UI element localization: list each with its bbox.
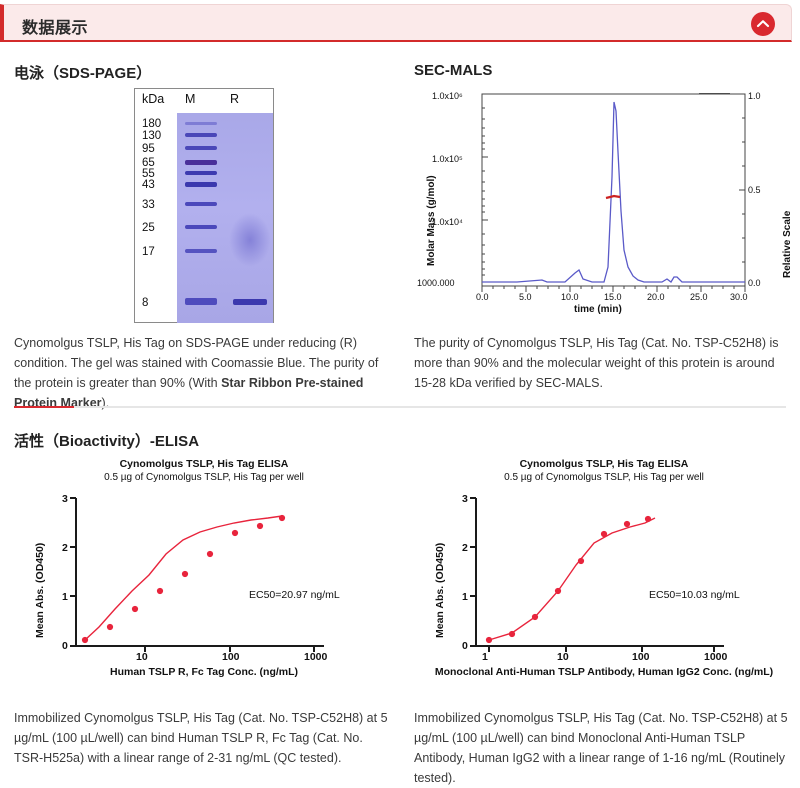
collapse-panel-button[interactable] — [751, 12, 775, 36]
gel-marker-8: 8 — [142, 297, 148, 309]
gel-marker-25: 25 — [142, 222, 155, 234]
gel-marker-43: 43 — [142, 179, 155, 191]
gel-lane-r: R — [230, 92, 239, 106]
section-heading-bioactivity: 活性（Bioactivity）-ELISA — [14, 430, 199, 451]
page-title: 数据展示 — [22, 14, 88, 38]
sds-page-caption: Cynomolgus TSLP, His Tag on SDS-PAGE und… — [14, 333, 394, 413]
elisa2-plot-area — [414, 458, 794, 688]
elisa-chart-antibody: Cynomolgus TSLP, His Tag ELISA 0.5 µg of… — [414, 458, 794, 688]
elisa1-plot-area — [14, 458, 394, 688]
gel-marker-95: 95 — [142, 143, 155, 155]
sec-mals-plot-area — [414, 86, 790, 314]
sec-mals-caption: The purity of Cynomolgus TSLP, His Tag (… — [414, 333, 794, 393]
section-divider — [14, 406, 786, 408]
elisa-right-caption: Immobilized Cynomolgus TSLP, His Tag (Ca… — [414, 708, 794, 788]
gel-lane-headers: kDa M R — [135, 92, 273, 112]
elisa-left-caption: Immobilized Cynomolgus TSLP, His Tag (Ca… — [14, 708, 394, 768]
gel-lanes — [177, 113, 273, 323]
sec-mals-chart: Molar Mass (g/mol) Relative Scale 1.0x10… — [414, 86, 790, 314]
gel-marker-17: 17 — [142, 246, 155, 258]
section-heading-sds-page: 电泳（SDS-PAGE） — [14, 62, 151, 83]
section-heading-sec-mals: SEC-MALS — [414, 62, 492, 79]
gel-unit-label: kDa — [142, 92, 164, 106]
gel-lane-m: M — [185, 92, 195, 106]
elisa-chart-tslpr: Cynomolgus TSLP, His Tag ELISA 0.5 µg of… — [14, 458, 394, 688]
gel-marker-130: 130 — [142, 130, 161, 142]
sds-page-gel-image: kDa M R 180 130 95 65 55 43 33 25 17 8 — [134, 88, 274, 323]
gel-marker-180: 180 — [142, 118, 161, 130]
gel-marker-33: 33 — [142, 199, 155, 211]
panel-header: 数据展示 — [0, 4, 792, 42]
